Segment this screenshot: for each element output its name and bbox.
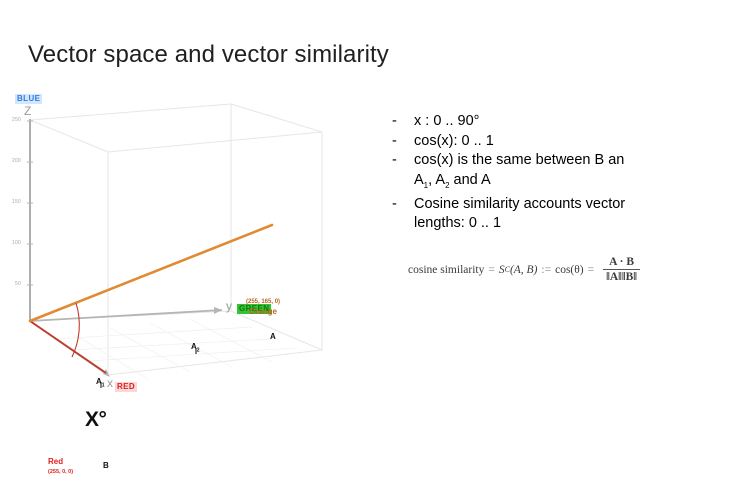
z-tick-label: 250 bbox=[5, 117, 21, 123]
bullet-text: Cosine similarity accounts vector bbox=[414, 195, 722, 215]
page-title: Vector space and vector similarity bbox=[28, 41, 389, 69]
bullet-dash: - bbox=[392, 195, 414, 215]
vector-space-3d-plot: BLUE GREEN RED Z y x 250 200 150 100 50 … bbox=[0, 92, 362, 411]
formula-equals-1: = bbox=[488, 264, 495, 276]
formula-assign: := bbox=[541, 264, 551, 276]
axis-tag-blue: BLUE bbox=[15, 94, 42, 104]
orange-coords: (255, 165, 0) bbox=[246, 297, 280, 307]
bullet-text: A1, A2 and A bbox=[414, 171, 722, 195]
formula-fraction: A · B ‖A‖‖B‖ bbox=[603, 256, 640, 283]
bullet-list: - x : 0 .. 90° - cos(x): 0 .. 1 - cos(x)… bbox=[392, 112, 722, 234]
bullet-a-base: A bbox=[414, 172, 424, 188]
list-item: - Cosine similarity accounts vector bbox=[392, 195, 722, 215]
bullet-a-post: and A bbox=[450, 172, 491, 188]
formula-denominator: ‖A‖‖B‖ bbox=[603, 270, 640, 283]
z-tick-label: 150 bbox=[5, 199, 21, 205]
bullet-a-mid: , A bbox=[428, 172, 445, 188]
list-item: - cos(x) is the same between B an bbox=[392, 151, 722, 171]
formula-equals-2: = bbox=[588, 264, 595, 276]
orange-name: Orange bbox=[246, 307, 280, 317]
red-point-annotation: Red (255, 0, 0) bbox=[48, 457, 73, 477]
list-item: - cos(x): 0 .. 1 bbox=[392, 132, 722, 152]
point-label-b: B bbox=[103, 461, 109, 470]
point-label-a2: A2 bbox=[191, 342, 200, 354]
point-label-a: A bbox=[270, 332, 276, 341]
red-coords: (255, 0, 0) bbox=[48, 467, 73, 477]
bullet-text: cos(x): 0 .. 1 bbox=[414, 132, 722, 152]
formula-numerator: A · B bbox=[606, 256, 637, 269]
z-tick-label: 100 bbox=[5, 240, 21, 246]
axis-label-x: x bbox=[107, 376, 113, 390]
red-name: Red bbox=[48, 457, 73, 467]
bullet-text: cos(x) is the same between B an bbox=[414, 151, 722, 171]
z-tick-label: 200 bbox=[5, 158, 21, 164]
orange-vector bbox=[30, 225, 272, 321]
angle-arc bbox=[72, 303, 79, 357]
bullet-dash: - bbox=[392, 151, 414, 171]
bullet-text: x : 0 .. 90° bbox=[414, 112, 722, 132]
orange-point-annotation: (255, 165, 0) Orange bbox=[246, 297, 280, 317]
angle-label: X° bbox=[85, 408, 106, 432]
z-tick-label: 50 bbox=[5, 281, 21, 287]
point-label-a2-sub: 2 bbox=[197, 348, 200, 354]
formula-args: (A, B) bbox=[510, 264, 537, 276]
bullet-dash: - bbox=[392, 132, 414, 152]
axis-label-z: Z bbox=[24, 104, 31, 118]
formula-cos: cos(θ) bbox=[555, 264, 584, 276]
list-item: - x : 0 .. 90° bbox=[392, 112, 722, 132]
point-label-a1: A1 bbox=[96, 377, 105, 389]
plot-canvas bbox=[0, 92, 362, 411]
bullet-dash: - bbox=[392, 112, 414, 132]
list-item-continuation: A1, A2 and A bbox=[392, 171, 722, 195]
cosine-similarity-formula: cosine similarity = SC (A, B) := cos(θ) … bbox=[408, 256, 640, 283]
point-label-a1-sub: 1 bbox=[102, 383, 105, 389]
bullet-text: lengths: 0 .. 1 bbox=[414, 214, 722, 234]
formula-lhs: cosine similarity bbox=[408, 264, 484, 276]
floor-grid bbox=[55, 319, 295, 379]
list-item-continuation: lengths: 0 .. 1 bbox=[392, 214, 722, 234]
axis-label-y: y bbox=[226, 299, 232, 313]
axis-tag-red: RED bbox=[115, 382, 137, 392]
